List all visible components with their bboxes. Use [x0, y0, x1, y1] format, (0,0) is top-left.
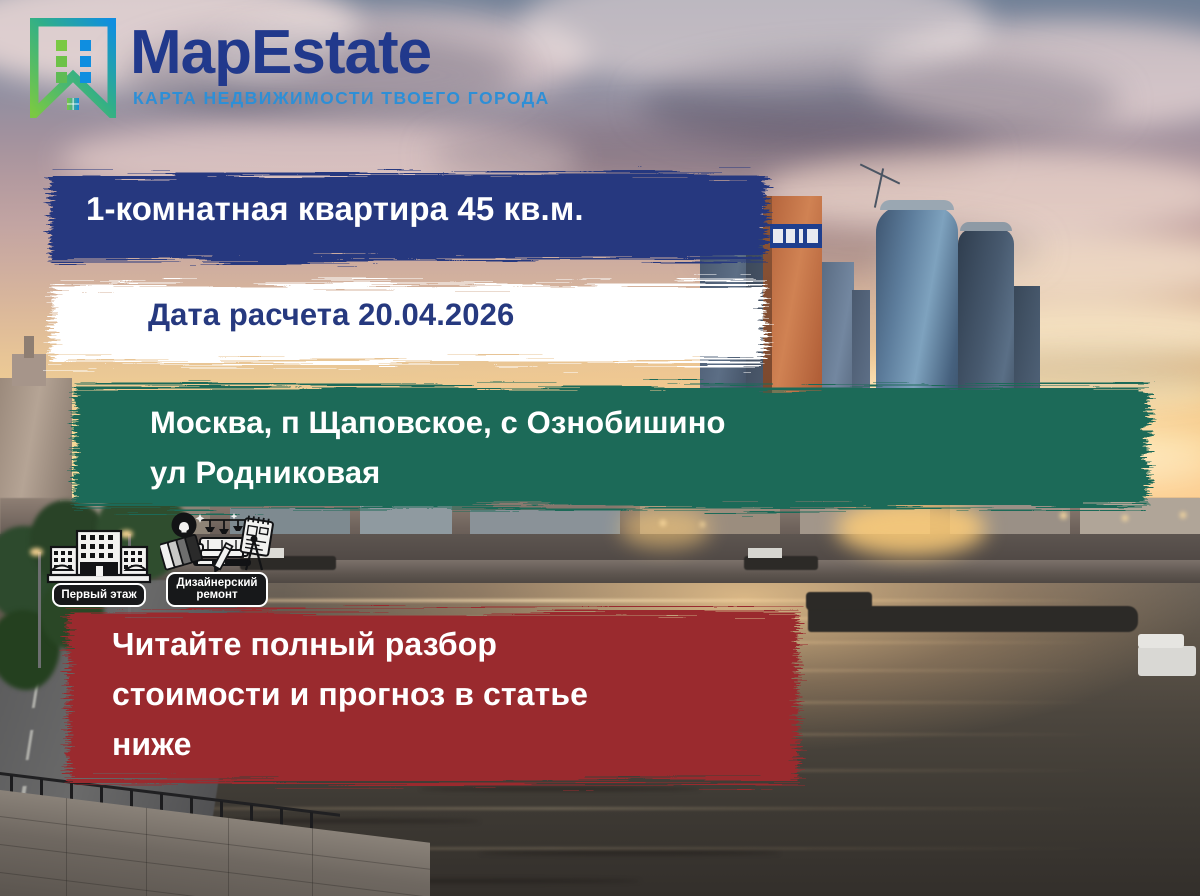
brand-name: MapEstate [130, 24, 550, 83]
banner-cta-line1: Читайте полный разбор [112, 626, 792, 663]
banner-address-line2: ул Родниковая [150, 455, 1130, 491]
banner-date-text: Дата расчета 20.04.2026 [148, 297, 788, 333]
building-icon [46, 525, 152, 587]
banner-cta-line3: ниже [112, 726, 792, 763]
badge-designer-renovation-label-line1: Дизайнерский [177, 577, 258, 589]
banner-title-text: 1-комнатная квартира 45 кв.м. [86, 190, 786, 228]
banner-address-shape [56, 372, 1166, 522]
brand-tagline: КАРТА НЕДВИЖИМОСТИ ТВОЕГО ГОРОДА [133, 88, 550, 109]
badge-designer-renovation: Дизайнерский ремонт [160, 512, 274, 607]
badge-designer-renovation-label-line2: ремонт [196, 589, 237, 601]
banner-cta-line2: стоимости и прогноз в статье [112, 676, 812, 713]
bookmark-building-icon [30, 18, 116, 118]
feature-badges: Первый этаж [46, 512, 274, 607]
banner-address-line1: Москва, п Щаповское, с Ознобишино [150, 405, 1130, 441]
badge-first-floor-label: Первый этаж [52, 583, 145, 606]
badge-designer-renovation-label: Дизайнерский ремонт [166, 572, 269, 607]
design-renovation-icon [160, 512, 274, 576]
badge-first-floor: Первый этаж [46, 525, 152, 606]
brand-logo[interactable]: MapEstate КАРТА НЕДВИЖИМОСТИ ТВОЕГО ГОРО… [30, 18, 550, 118]
